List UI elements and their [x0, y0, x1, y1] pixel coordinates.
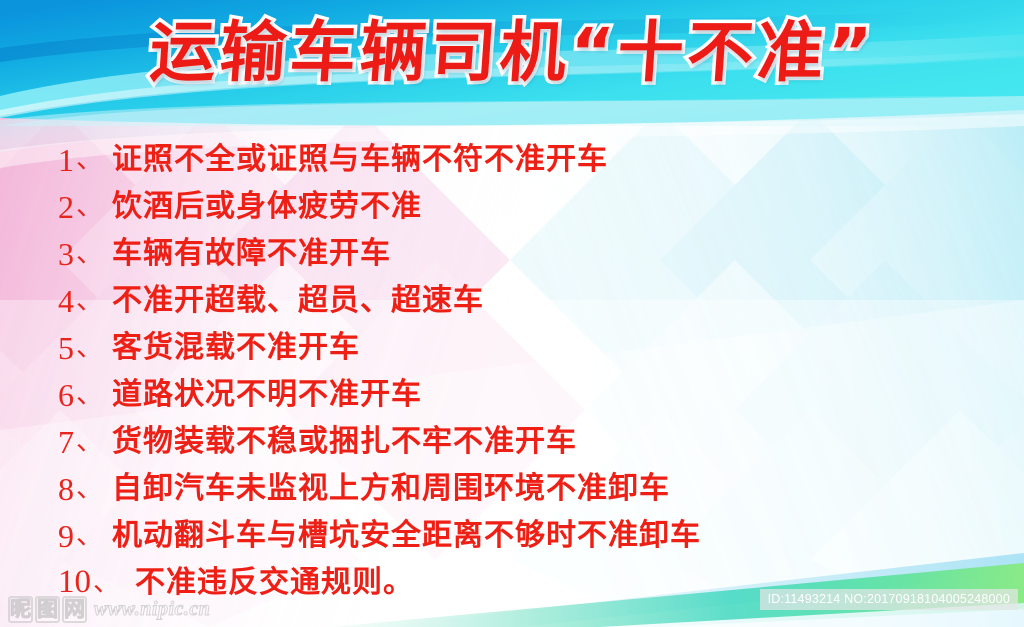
- rule-text: 客货混载不准开车: [112, 333, 360, 363]
- rule-separator: 、: [76, 381, 103, 408]
- rule-text: 不准违反交通规则。: [135, 568, 414, 598]
- rule-separator: 、: [76, 287, 103, 314]
- rule-separator: 、: [76, 475, 103, 502]
- rule-text: 机动翻斗车与槽坑安全距离不够时不准卸车: [112, 521, 701, 551]
- rule-number: 5: [58, 332, 74, 364]
- rule-item-3: 3 、 车辆有故障不准开车: [0, 230, 1024, 277]
- rule-separator: 、: [76, 522, 103, 549]
- rule-item-5: 5 、 客货混载不准开车: [0, 324, 1024, 371]
- rule-item-7: 7 、 货物装载不稳或捆扎不牢不准开车: [0, 418, 1024, 465]
- rule-number: 6: [58, 379, 74, 411]
- rule-item-6: 6 、 道路状况不明不准开车: [0, 371, 1024, 418]
- rule-number: 1: [58, 144, 74, 176]
- rule-separator: 、: [76, 334, 103, 361]
- rule-separator: 、: [76, 146, 103, 173]
- rule-separator: 、: [93, 569, 120, 596]
- rule-number: 9: [58, 520, 74, 552]
- rule-item-1: 1 、 证照不全或证照与车辆不符不准开车: [0, 136, 1024, 183]
- poster-canvas: 运输车辆司机“十不准” 1 、 证照不全或证照与车辆不符不准开车 2 、 饮酒后…: [0, 0, 1024, 627]
- rule-separator: 、: [76, 428, 103, 455]
- rule-item-4: 4 、 不准开超载、超员、超速车: [0, 277, 1024, 324]
- rule-number: 2: [58, 191, 74, 223]
- rule-number: 7: [58, 426, 74, 458]
- rule-number: 4: [58, 285, 74, 317]
- rule-separator: 、: [76, 193, 103, 220]
- rule-number: 10: [58, 566, 91, 599]
- rule-item-2: 2 、 饮酒后或身体疲劳不准: [0, 183, 1024, 230]
- rule-text: 不准开超载、超员、超速车: [112, 286, 484, 316]
- rule-number: 8: [58, 473, 74, 505]
- rule-text: 饮酒后或身体疲劳不准: [112, 192, 422, 222]
- rule-text: 车辆有故障不准开车: [112, 239, 391, 269]
- rule-text: 证照不全或证照与车辆不符不准开车: [112, 145, 608, 175]
- rule-item-9: 9 、 机动翻斗车与槽坑安全距离不够时不准卸车: [0, 512, 1024, 559]
- rule-item-10: 10 、 不准违反交通规则。: [0, 559, 1024, 606]
- rule-item-8: 8 、 自卸汽车未监视上方和周围环境不准卸车: [0, 465, 1024, 512]
- rule-number: 3: [58, 238, 74, 270]
- rule-text: 货物装载不稳或捆扎不牢不准开车: [112, 427, 577, 457]
- rule-text: 自卸汽车未监视上方和周围环境不准卸车: [112, 474, 670, 504]
- rule-separator: 、: [76, 240, 103, 267]
- rule-list: 1 、 证照不全或证照与车辆不符不准开车 2 、 饮酒后或身体疲劳不准 3 、 …: [0, 136, 1024, 606]
- rule-text: 道路状况不明不准开车: [112, 380, 422, 410]
